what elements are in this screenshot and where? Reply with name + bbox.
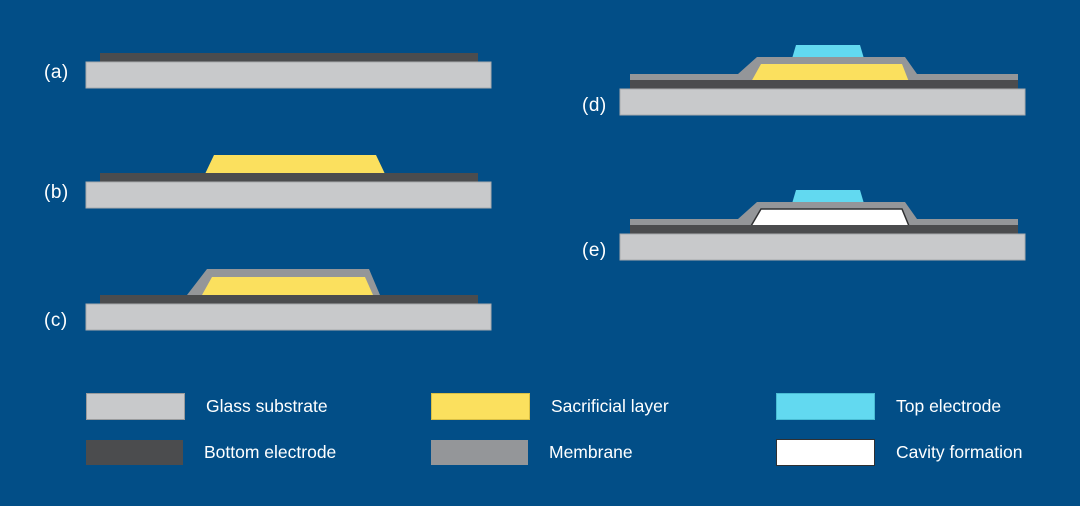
membrane-swatch xyxy=(431,440,528,465)
panel-c-stack xyxy=(80,255,500,345)
bottom-electrode-swatch xyxy=(86,440,183,465)
cavity-formation-swatch xyxy=(776,439,875,466)
glass-substrate-layer xyxy=(86,304,491,330)
panel-d-label: (d) xyxy=(582,95,607,117)
legend-item-bottom-electrode: Bottom electrode xyxy=(86,439,336,465)
legend-label-sacrificial-layer: Sacrificial layer xyxy=(551,396,669,417)
legend-item-top-electrode: Top electrode xyxy=(776,393,1001,419)
panel-b-stack xyxy=(80,140,500,215)
legend-label-membrane: Membrane xyxy=(549,442,633,463)
panel-e-label: (e) xyxy=(582,240,607,262)
glass-substrate-layer xyxy=(620,89,1025,115)
panel-a-stack xyxy=(80,44,500,94)
glass-substrate-swatch xyxy=(86,393,185,420)
legend-column-1: Glass substrate Bottom electrode xyxy=(86,388,416,478)
legend-item-membrane: Membrane xyxy=(431,439,633,465)
panel-c-label: (c) xyxy=(44,310,68,332)
sacrificial-layer-layer xyxy=(751,64,909,82)
glass-substrate-layer xyxy=(86,182,491,208)
legend-label-bottom-electrode: Bottom electrode xyxy=(204,442,336,463)
panel-e-stack xyxy=(618,180,1038,275)
glass-substrate-layer xyxy=(620,234,1025,260)
legend-item-sacrificial-layer: Sacrificial layer xyxy=(431,393,669,419)
sacrificial-layer-layer xyxy=(205,155,385,174)
panel-d-stack xyxy=(618,35,1038,130)
legend-label-top-electrode: Top electrode xyxy=(896,396,1001,417)
process-flow-figure: (a) (b) (c) xyxy=(0,0,1080,506)
legend: Glass substrate Bottom electrode Sacrifi… xyxy=(86,388,1046,478)
glass-substrate-layer xyxy=(86,62,491,88)
legend-item-cavity-formation: Cavity formation xyxy=(776,439,1022,465)
cavity-formation-layer xyxy=(751,209,909,226)
legend-label-cavity-formation: Cavity formation xyxy=(896,442,1022,463)
legend-label-glass-substrate: Glass substrate xyxy=(206,396,328,417)
panel-a-label: (a) xyxy=(44,62,69,84)
panel-b-label: (b) xyxy=(44,182,69,204)
legend-item-glass-substrate: Glass substrate xyxy=(86,393,328,419)
legend-column-3: Top electrode Cavity formation xyxy=(776,388,1080,478)
legend-column-2: Sacrificial layer Membrane xyxy=(431,388,761,478)
top-electrode-swatch xyxy=(776,393,875,420)
sacrificial-layer-swatch xyxy=(431,393,530,420)
sacrificial-layer-layer xyxy=(202,277,373,295)
